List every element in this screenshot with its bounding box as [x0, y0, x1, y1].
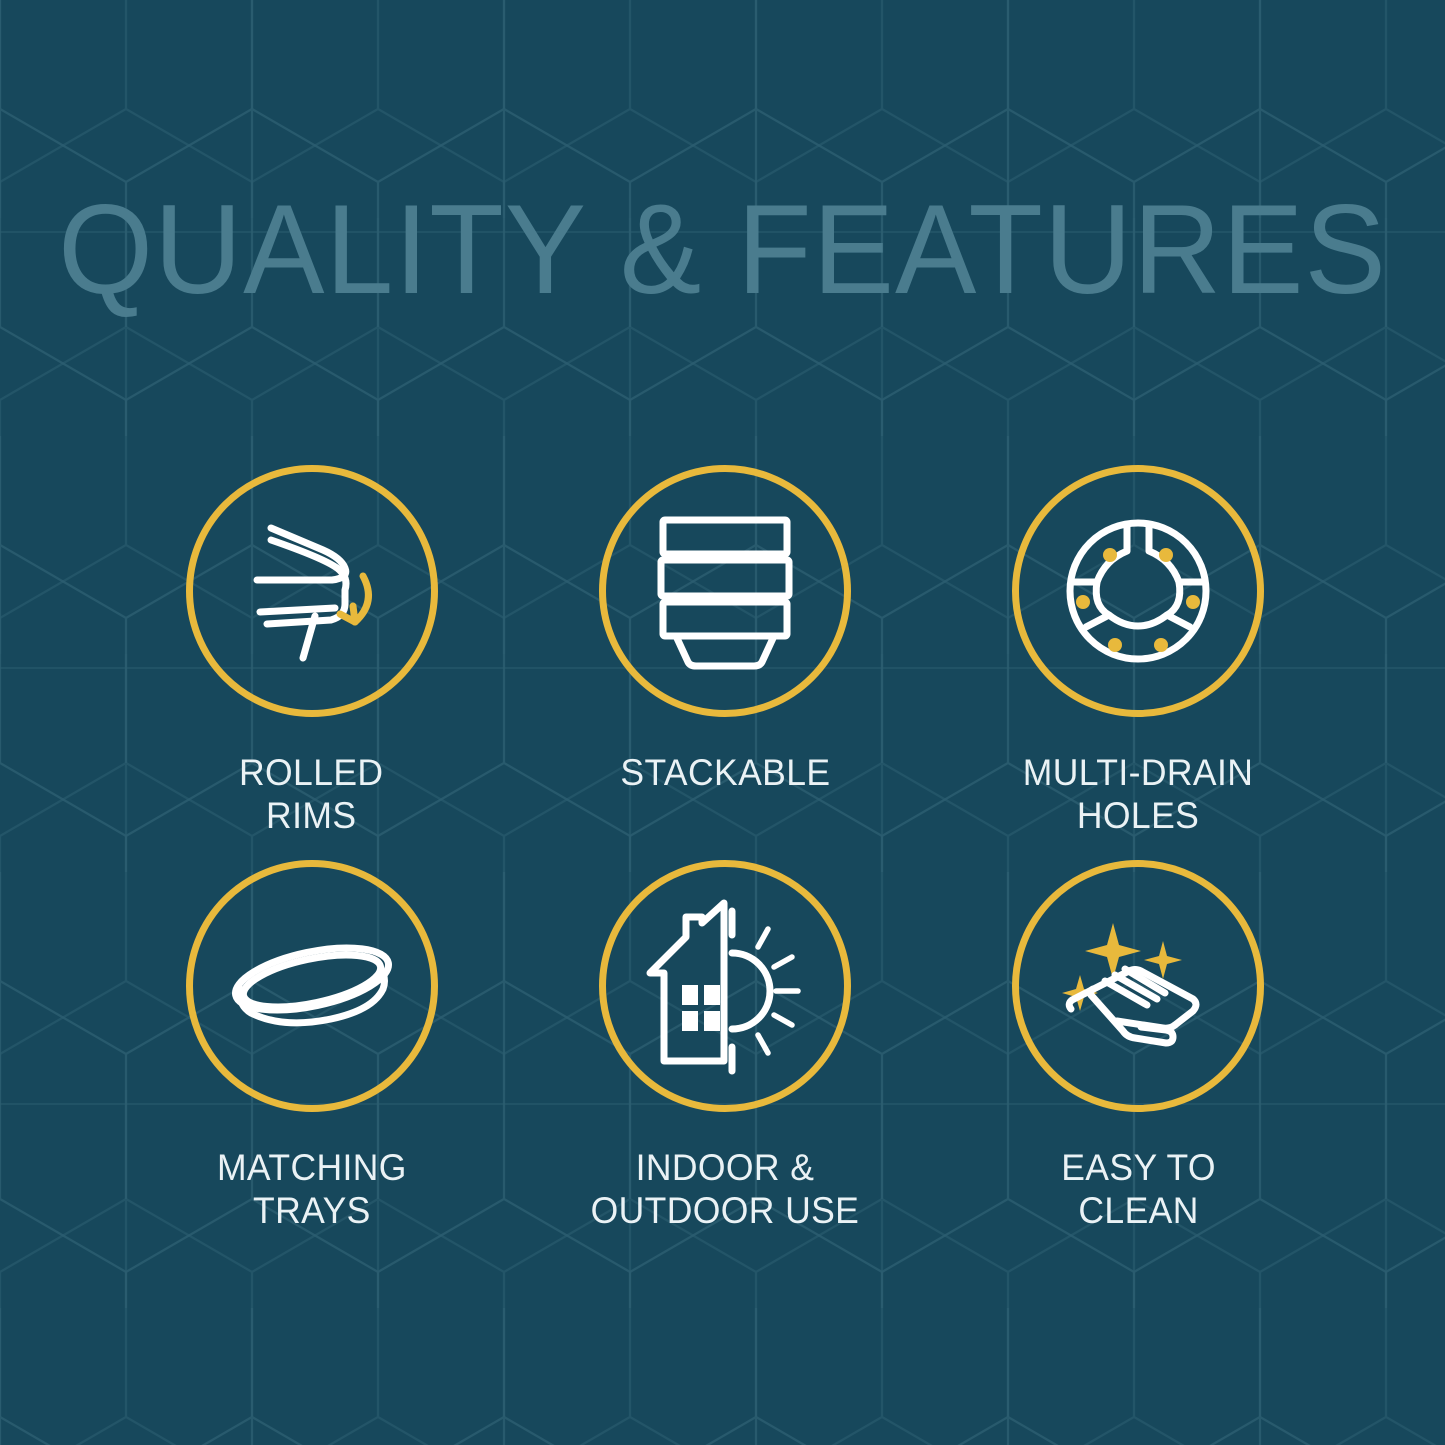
hand-wipe-sparkle-icon [1053, 901, 1223, 1071]
feature-item-rolled-rims[interactable]: ROLLED RIMS [105, 465, 518, 860]
feature-label: MATCHING TRAYS [217, 1146, 407, 1232]
feature-badge [599, 465, 851, 717]
feature-badge [186, 465, 438, 717]
drain-holes-icon [1053, 506, 1223, 676]
feature-badge [186, 860, 438, 1112]
feature-item-multi-drain-holes[interactable]: MULTI-DRAIN HOLES [932, 465, 1345, 860]
feature-label: ROLLED RIMS [239, 751, 383, 837]
feature-grid: ROLLED RIMS STACKABL [105, 465, 1345, 1255]
feature-item-stackable[interactable]: STACKABLE [518, 465, 931, 860]
house-sun-icon [640, 901, 810, 1071]
feature-label: INDOOR & OUTDOOR USE [591, 1146, 860, 1232]
feature-badge [1012, 860, 1264, 1112]
feature-badge [599, 860, 851, 1112]
stacked-pots-icon [640, 506, 810, 676]
page-title-container: QUALITY & FEATURES [0, 186, 1445, 308]
feature-label: STACKABLE [620, 751, 830, 794]
tray-saucer-icon [227, 901, 397, 1071]
feature-badge [1012, 465, 1264, 717]
feature-item-indoor-outdoor-use[interactable]: INDOOR & OUTDOOR USE [518, 860, 931, 1255]
feature-label: EASY TO CLEAN [1061, 1146, 1216, 1232]
page-title: QUALITY & FEATURES [58, 186, 1387, 313]
feature-item-easy-to-clean[interactable]: EASY TO CLEAN [932, 860, 1345, 1255]
feature-item-matching-trays[interactable]: MATCHING TRAYS [105, 860, 518, 1255]
feature-label: MULTI-DRAIN HOLES [1023, 751, 1254, 837]
feature-infographic: QUALITY & FEATURES [0, 0, 1445, 1445]
rolled-rim-icon [227, 506, 397, 676]
